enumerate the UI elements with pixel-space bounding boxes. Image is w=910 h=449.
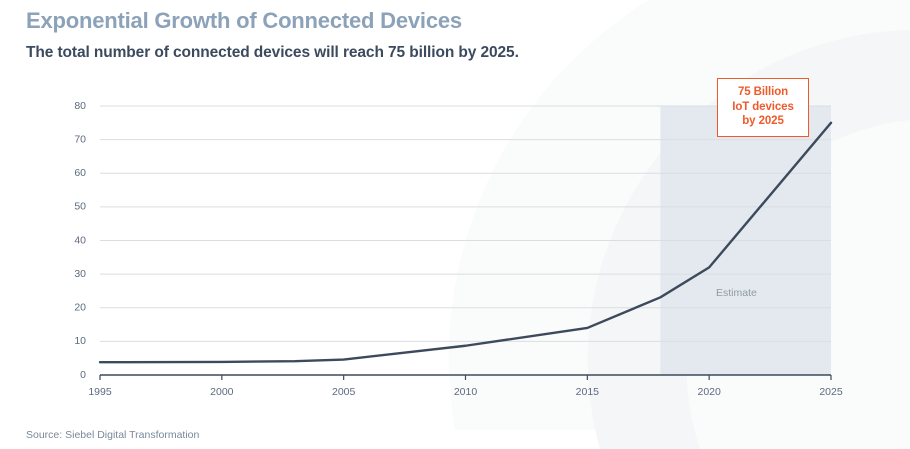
y-axis-ticks: 01020304050607080 — [74, 100, 86, 381]
chart-plot-area: 01020304050607080 1995200020052010201520… — [0, 0, 910, 420]
chart-page: Exponential Growth of Connected Devices … — [0, 0, 910, 449]
svg-text:60: 60 — [74, 167, 86, 179]
svg-text:80: 80 — [74, 100, 86, 112]
svg-text:2005: 2005 — [332, 386, 356, 398]
svg-text:20: 20 — [74, 302, 86, 314]
callout-line-3: by 2025 — [722, 114, 804, 129]
svg-text:2015: 2015 — [576, 386, 600, 398]
callout-line-2: IoT devices — [722, 100, 804, 115]
svg-text:2010: 2010 — [454, 386, 478, 398]
svg-text:1995: 1995 — [88, 386, 112, 398]
callout-line-1: 75 Billion — [722, 85, 804, 100]
x-axis-ticks: 1995200020052010201520202025 — [88, 386, 843, 398]
svg-text:2025: 2025 — [819, 386, 843, 398]
svg-text:0: 0 — [80, 369, 86, 381]
source-note: Source: Siebel Digital Transformation — [26, 429, 199, 441]
svg-text:10: 10 — [74, 335, 86, 347]
svg-text:2000: 2000 — [210, 386, 234, 398]
svg-text:30: 30 — [74, 268, 86, 280]
callout-box: 75 Billion IoT devices by 2025 — [717, 78, 809, 137]
estimate-region-label: Estimate — [716, 287, 757, 299]
axis-lines — [100, 375, 831, 380]
svg-text:70: 70 — [74, 133, 86, 145]
svg-text:2020: 2020 — [697, 386, 721, 398]
svg-text:40: 40 — [74, 234, 86, 246]
svg-text:50: 50 — [74, 201, 86, 213]
